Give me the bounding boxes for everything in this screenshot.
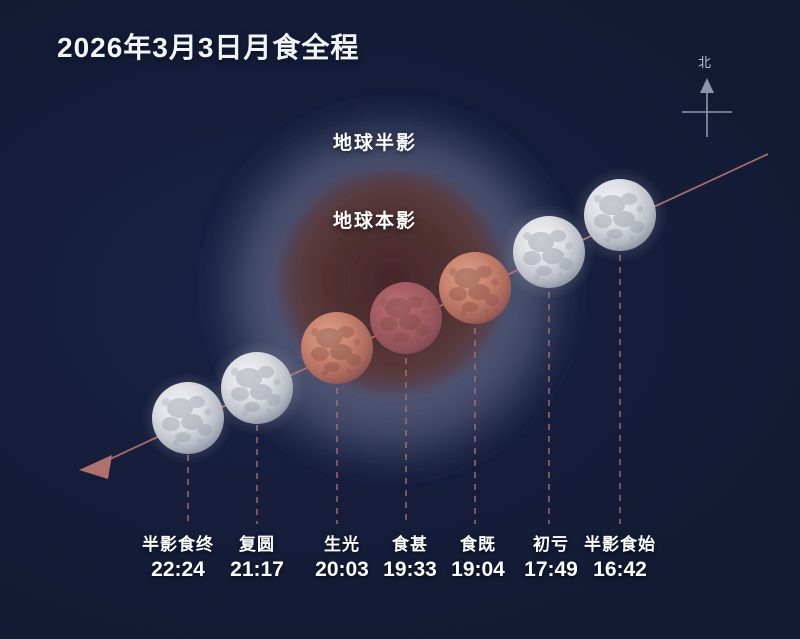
phase-name: 初亏 xyxy=(524,533,578,557)
penumbra-label: 地球半影 xyxy=(333,128,417,155)
phase-label: 食甚19:33 xyxy=(383,533,437,583)
phase-time: 16:42 xyxy=(584,557,656,583)
phase-time: 22:24 xyxy=(142,557,214,583)
moon-phase-7 xyxy=(142,372,234,464)
phase-label: 初亏17:49 xyxy=(524,533,578,583)
phase-label: 食既19:04 xyxy=(451,533,505,583)
phase-time: 19:33 xyxy=(383,557,437,583)
phase-label: 半影食始16:42 xyxy=(584,533,656,583)
phase-name: 食甚 xyxy=(383,533,437,557)
phase-time: 17:49 xyxy=(524,557,578,583)
eclipse-diagram: 2026年3月3日月食全程 地球半影 地球本影 北 半影食终22:24复圆21:… xyxy=(0,0,800,639)
phase-name: 复圆 xyxy=(230,533,284,557)
moon-phase-4 xyxy=(370,282,442,354)
phase-label: 复圆21:17 xyxy=(230,533,284,583)
compass-north-indicator xyxy=(682,78,732,137)
phase-time: 21:17 xyxy=(230,557,284,583)
moon-phase-3 xyxy=(439,252,511,324)
phase-time: 20:03 xyxy=(315,557,369,583)
phase-label-row: 半影食终22:24复圆21:17生光20:03食甚19:33食既19:04初亏1… xyxy=(0,533,800,603)
phase-name: 半影食始 xyxy=(584,533,656,557)
moon-phase-2 xyxy=(501,204,597,300)
phase-label: 生光20:03 xyxy=(315,533,369,583)
north-label: 北 xyxy=(698,52,712,71)
phase-label: 半影食终22:24 xyxy=(142,533,214,583)
page-title: 2026年3月3日月食全程 xyxy=(57,26,359,66)
phase-name: 生光 xyxy=(315,533,369,557)
phase-name: 半影食终 xyxy=(142,533,214,557)
phase-time: 19:04 xyxy=(451,557,505,583)
umbra-label: 地球本影 xyxy=(333,206,417,233)
phase-name: 食既 xyxy=(451,533,505,557)
moon-phase-5 xyxy=(301,312,373,384)
